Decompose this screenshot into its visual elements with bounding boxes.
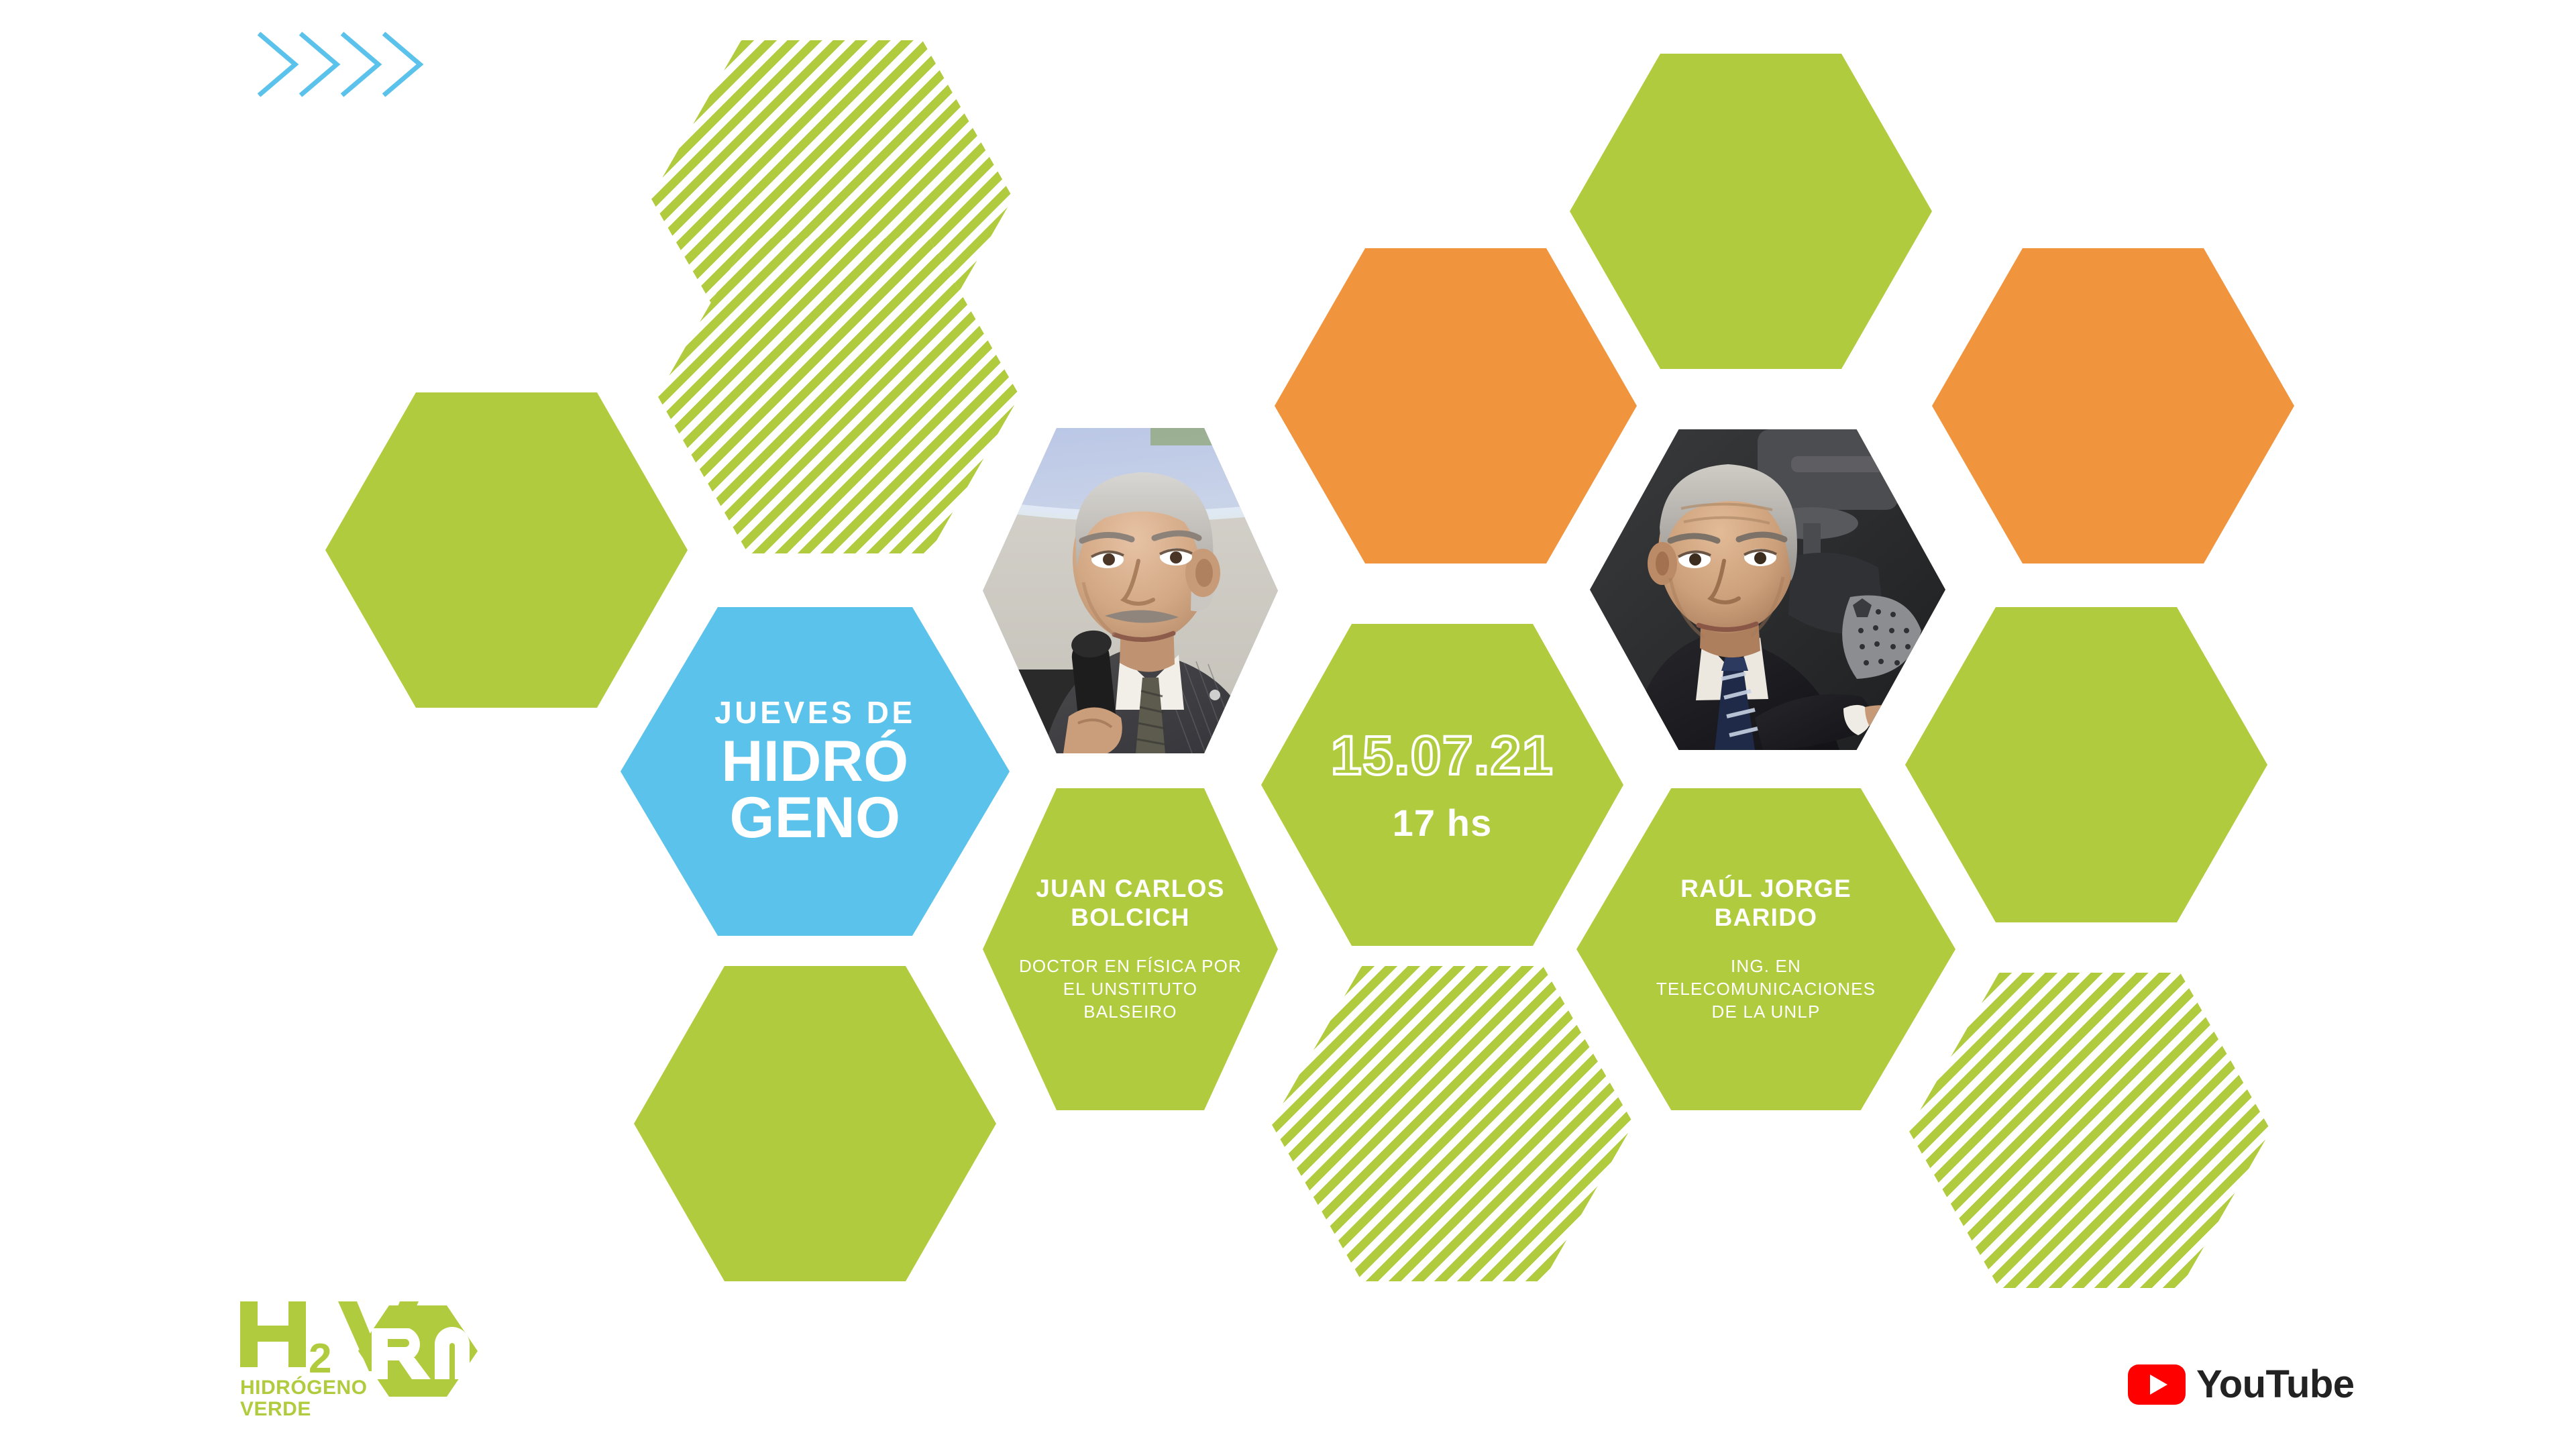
event-date: 15.07.21 [1283, 727, 1601, 786]
hex-striped-bottom-right [1909, 973, 2271, 1288]
speaker-1-photo-image [983, 428, 1278, 753]
title-line-1: HIDRÓ [644, 733, 986, 790]
chevron-arrows-icon [254, 24, 435, 105]
h2v-rn-logo-icon: 2 HIDRÓGENO VERDE [236, 1296, 491, 1422]
hex-green-top-right [1570, 54, 1932, 369]
speaker-2-role-line-2: TELECOMUNICACIONES [1584, 978, 1947, 1001]
speaker-2-name-line-1: RAÚL JORGE [1584, 875, 1947, 904]
hex-green-far-left [325, 392, 688, 708]
speaker-1-role-line-1: DOCTOR EN FÍSICA POR [991, 955, 1269, 978]
poster-canvas: JUEVES DE HIDRÓ GENO 15.07.21 17 hs JUAN… [0, 0, 2576, 1449]
hex-orange-right [1932, 248, 2294, 563]
speaker-1-card: JUAN CARLOS BOLCICH DOCTOR EN FÍSICA POR… [983, 788, 1278, 1110]
svg-text:2: 2 [309, 1336, 331, 1382]
youtube-badge[interactable]: YouTube [2128, 1362, 2354, 1407]
event-time: 17 hs [1283, 803, 1601, 843]
speaker-1-role-line-2: EL UNSTITUTO [991, 978, 1269, 1001]
youtube-play-icon [2128, 1364, 2186, 1405]
speaker-2-role-line-3: DE LA UNLP [1584, 1001, 1947, 1024]
hex-orange-center [1275, 248, 1637, 563]
date-hexagon: 15.07.21 17 hs [1261, 624, 1623, 946]
logo-tagline-line-2: VERDE [240, 1398, 311, 1420]
h2v-rn-logo: 2 HIDRÓGENO VERDE [236, 1296, 491, 1422]
speaker-1-role-line-3: BALSEIRO [991, 1001, 1269, 1024]
title-hexagon: JUEVES DE HIDRÓ GENO [621, 607, 1010, 936]
title-text-block: JUEVES DE HIDRÓ GENO [621, 696, 1010, 846]
title-kicker: JUEVES DE [644, 696, 986, 729]
date-text-block: 15.07.21 17 hs [1261, 727, 1623, 843]
title-line-2: GENO [644, 790, 986, 846]
speaker-2-name-line-2: BARIDO [1584, 904, 1947, 932]
logo-tagline-line-1: HIDRÓGENO [240, 1376, 368, 1399]
hex-green-bottom-left [634, 966, 996, 1281]
speaker-1-photo [983, 428, 1278, 753]
speaker-2-photo [1590, 429, 1945, 750]
youtube-wordmark: YouTube [2196, 1362, 2354, 1407]
speaker-2-card: RAÚL JORGE BARIDO ING. EN TELECOMUNICACI… [1576, 788, 1955, 1110]
speaker-1-name-line-1: JUAN CARLOS [991, 875, 1269, 904]
speaker-2-text-block: RAÚL JORGE BARIDO ING. EN TELECOMUNICACI… [1576, 875, 1955, 1023]
speaker-1-name-line-2: BOLCICH [991, 904, 1269, 932]
speaker-2-role-line-1: ING. EN [1584, 955, 1947, 978]
speaker-1-text-block: JUAN CARLOS BOLCICH DOCTOR EN FÍSICA POR… [983, 875, 1278, 1023]
hex-green-mid-right [1905, 607, 2267, 922]
chevron-decoration [254, 24, 435, 105]
hex-striped-bottom-center [1271, 966, 1633, 1281]
speaker-2-photo-image [1590, 429, 1945, 750]
